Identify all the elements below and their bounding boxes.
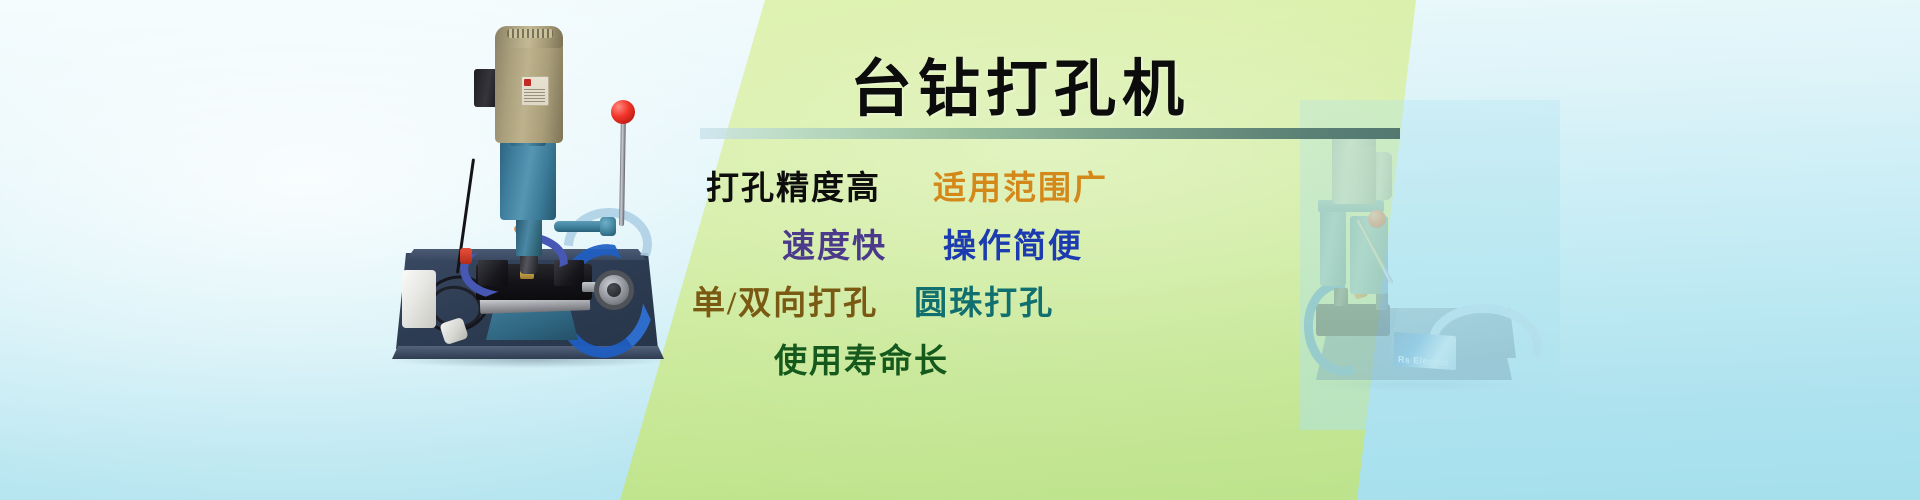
drill-quill	[516, 216, 542, 256]
feature-item-long-service-life: 使用寿命长	[774, 341, 949, 385]
feature-row-4: 使用寿命长	[640, 341, 1340, 385]
feature-item-single-double-drilling: 单/双向打孔	[692, 283, 878, 327]
coolant-hose-clip	[460, 248, 472, 264]
motor-vent-slots	[507, 29, 553, 38]
feature-item-drilling-precision: 打孔精度高	[706, 168, 881, 212]
feature-list: 打孔精度高 适用范围广 速度快 操作简便 单/双向打孔 圆珠打孔 使用寿命长	[640, 168, 1340, 398]
white-control-box	[402, 270, 436, 328]
bench-drill-machine-primary-image	[368, 8, 668, 380]
spindle-lock-arm	[554, 221, 606, 232]
page-title: 台钻打孔机	[760, 38, 1280, 128]
feature-item-wide-application: 适用范围广	[933, 168, 1108, 212]
feature-item-ball-drilling: 圆珠打孔	[914, 283, 1054, 327]
machine-head-body	[1350, 216, 1388, 294]
feature-row-1: 打孔精度高 适用范围广	[640, 168, 1340, 212]
feature-row-3: 单/双向打孔 圆珠打孔	[640, 283, 1340, 327]
machine-shadow-secondary	[1310, 378, 1520, 392]
title-divider	[700, 128, 1400, 139]
red-lever-ball-secondary	[1368, 210, 1386, 228]
feature-item-easy-operation: 操作简便	[943, 226, 1083, 270]
feature-item-fast-speed: 速度快	[782, 226, 887, 270]
feature-row-2: 速度快 操作简便	[640, 226, 1340, 270]
spindle-housing	[500, 140, 556, 220]
feed-lever	[619, 114, 626, 226]
product-banner: Rs Electric 台钻打孔机 打孔精度高 适用范围广 速度快 操作简便	[0, 0, 1920, 500]
motor-spec-label	[521, 76, 549, 106]
bench-drill-machine-secondary-image: Rs Electric	[1310, 112, 1540, 412]
spindle-lock-knob	[600, 217, 616, 236]
red-lever-ball	[611, 100, 635, 124]
handwheel-hub	[607, 283, 621, 297]
